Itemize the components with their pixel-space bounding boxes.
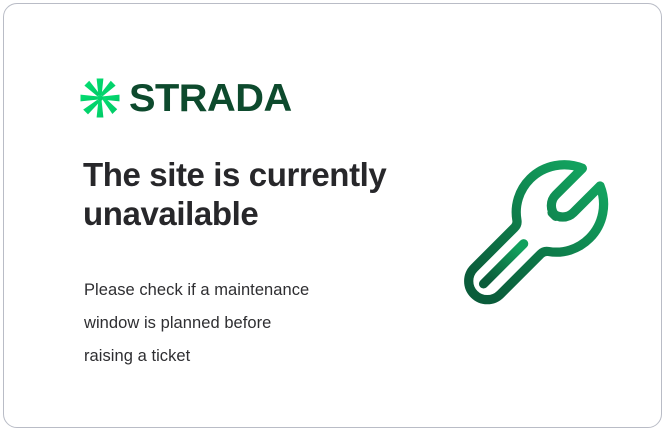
strada-asterisk-icon bbox=[80, 78, 120, 118]
status-card: STRADA The site is currently unavailable… bbox=[3, 3, 662, 428]
page-title: The site is currently unavailable bbox=[83, 156, 423, 233]
status-description: Please check if a maintenance window is … bbox=[84, 274, 404, 373]
description-line: raising a ticket bbox=[84, 340, 404, 373]
error-page: STRADA The site is currently unavailable… bbox=[0, 0, 666, 436]
wrench-icon bbox=[456, 152, 621, 317]
brand-wordmark: STRADA bbox=[129, 79, 292, 118]
maintenance-illustration bbox=[456, 152, 621, 317]
description-line: window is planned before bbox=[84, 307, 404, 340]
description-line: Please check if a maintenance bbox=[84, 274, 404, 307]
brand-lockup: STRADA bbox=[80, 72, 289, 124]
